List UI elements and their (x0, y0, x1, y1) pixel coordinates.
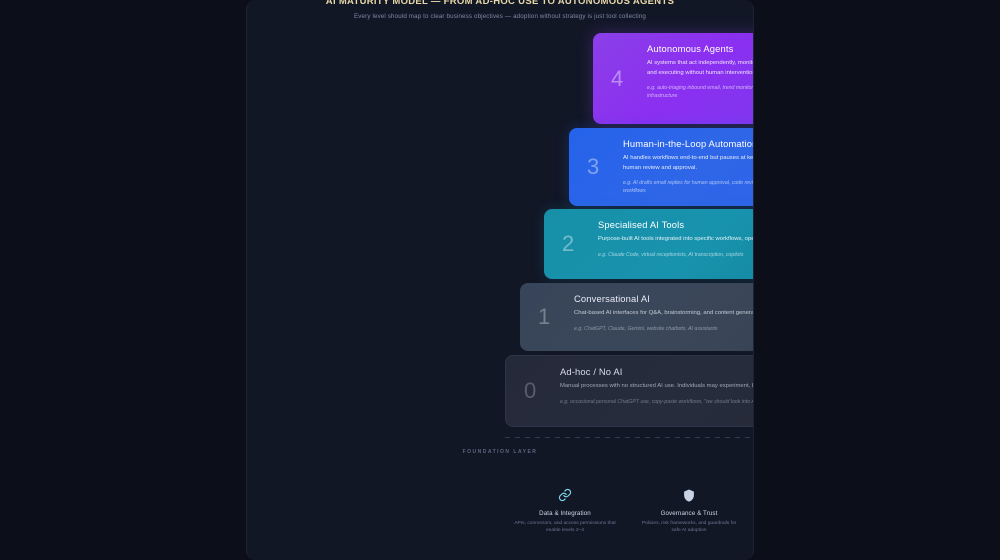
level-description: Chat-based AI interfaces for Q&A, brains… (574, 309, 754, 319)
level-title: Human-in-the-Loop Automation (623, 138, 754, 149)
maturity-level-0[interactable]: 0 Ad-hoc / No AI Manual processes with n… (505, 355, 754, 427)
level-title: Ad-hoc / No AI (560, 366, 754, 377)
foundation-layer-label: FOUNDATION LAYER (247, 449, 753, 455)
maturity-level-4[interactable]: 4 Autonomous Agents AI systems that act … (593, 33, 754, 124)
level-example: e.g. auto-triaging inbound email, trend … (647, 84, 754, 101)
page-title: AI MATURITY MODEL — FROM AD-HOC USE TO A… (247, 0, 753, 7)
level-number: 2 (562, 233, 574, 255)
foundation-items: Data & Integration APIs, connectors, and… (509, 485, 754, 535)
level-description: Purpose-built AI tools integrated into s… (598, 235, 754, 245)
level-example: e.g. ChatGPT, Claude, Gemini, website ch… (574, 325, 754, 333)
level-example: e.g. Claude Code, virtual receptionists,… (598, 251, 754, 259)
level-number: 0 (524, 380, 536, 402)
level-title: Specialised AI Tools (598, 219, 754, 230)
level-example: e.g. occasional personal ChatGPT use, co… (560, 398, 754, 406)
level-number: 1 (538, 306, 550, 328)
foundation-item-title: Data & Integration (509, 510, 621, 517)
foundation-item-data-integration[interactable]: Data & Integration APIs, connectors, and… (509, 485, 621, 535)
diagram-panel: AI MATURITY MODEL — FROM AD-HOC USE TO A… (246, 0, 754, 560)
maturity-level-1[interactable]: 1 Conversational AI Chat-based AI interf… (520, 283, 754, 351)
foundation-item-description: Policies, risk frameworks, and guardrail… (633, 520, 745, 535)
level-example: e.g. AI drafts email replies for human a… (623, 179, 754, 196)
level-description: Manual processes with no structured AI u… (560, 382, 754, 392)
maturity-level-3[interactable]: 3 Human-in-the-Loop Automation AI handle… (569, 128, 754, 206)
foundation-item-title: Governance & Trust (633, 510, 745, 517)
page-subtitle: Every level should map to clear business… (247, 13, 753, 20)
level-number: 3 (587, 156, 599, 178)
level-description: AI systems that act independently, monit… (647, 59, 754, 78)
link-icon (509, 485, 621, 505)
foundation-item-description: APIs, connectors, and access permissions… (509, 520, 621, 535)
level-title: Conversational AI (574, 293, 754, 304)
foundation-divider (505, 437, 754, 438)
foundation-item-governance-trust[interactable]: Governance & Trust Policies, risk framew… (633, 485, 745, 535)
page-root: AI MATURITY MODEL — FROM AD-HOC USE TO A… (0, 0, 1000, 560)
shield-icon (633, 485, 745, 505)
level-description: AI handles workflows end-to-end but paus… (623, 154, 754, 173)
maturity-level-2[interactable]: 2 Specialised AI Tools Purpose-built AI … (544, 209, 754, 279)
level-title: Autonomous Agents (647, 43, 754, 54)
level-number: 4 (611, 68, 623, 90)
